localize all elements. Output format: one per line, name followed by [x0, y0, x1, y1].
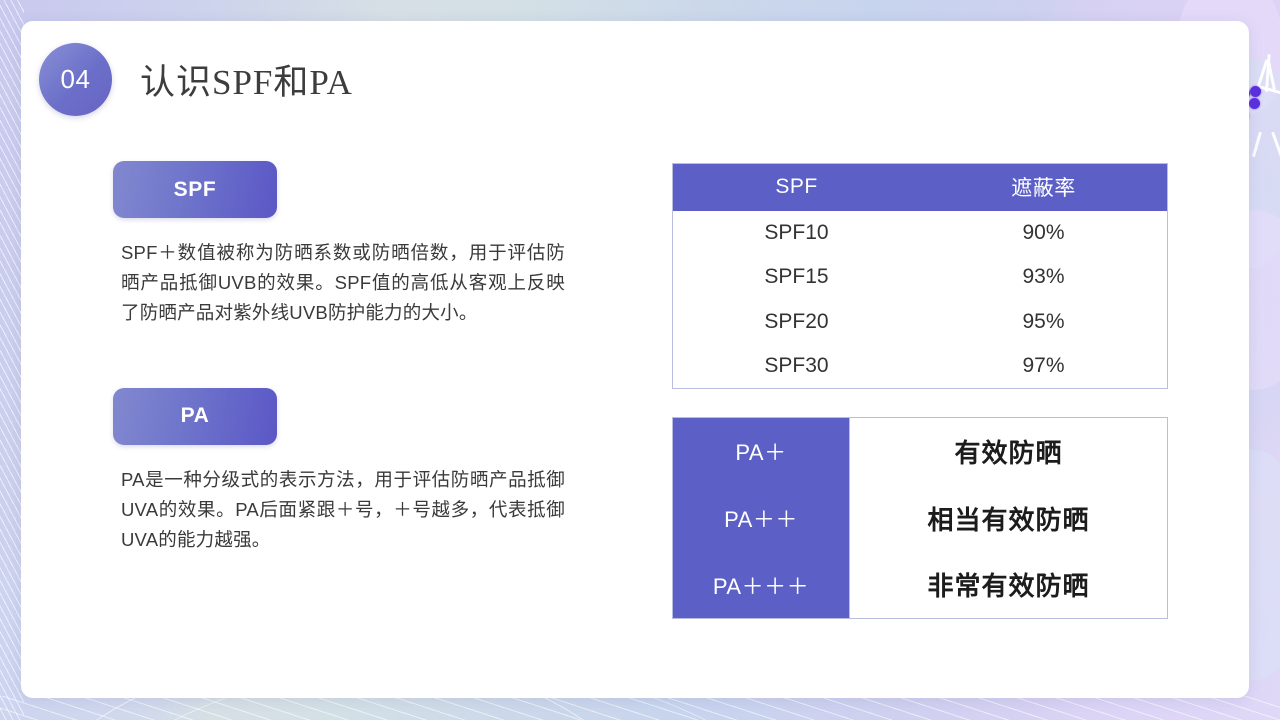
pa-table-body: PA＋ 有效防晒 PA＋＋ 相当有效防晒 PA＋＋＋ 非常有效防晒 — [673, 418, 1168, 619]
concept-text-pa: PA是一种分级式的表示方法，用于评估防晒产品抵御UVA的效果。PA后面紧跟＋号，… — [113, 465, 565, 555]
table-row: SPF15 93% — [673, 255, 1168, 300]
table-row: PA＋＋＋ 非常有效防晒 — [673, 552, 1168, 619]
pa-cell-desc: 相当有效防晒 — [850, 485, 1168, 552]
table-row: SPF30 97% — [673, 344, 1168, 389]
pa-cell-level: PA＋ — [673, 418, 850, 485]
spf-cell-level: SPF15 — [673, 255, 921, 300]
slide-header: 04 认识SPF和PA — [21, 21, 353, 116]
concept-block-pa: PA PA是一种分级式的表示方法，用于评估防晒产品抵御UVA的效果。PA后面紧跟… — [113, 388, 583, 555]
page-title: 认识SPF和PA — [140, 54, 353, 105]
pa-cell-level: PA＋＋ — [673, 485, 850, 552]
content-card: 04 认识SPF和PA SPF SPF＋数值被称为防晒系数或防晒倍数，用于评估防… — [21, 21, 1249, 698]
concept-block-spf: SPF SPF＋数值被称为防晒系数或防晒倍数，用于评估防晒产品抵御UVB的效果。… — [113, 161, 583, 328]
right-column: SPF 遮蔽率 SPF10 90% SPF15 93% SPF20 — [672, 163, 1168, 619]
spf-table-body: SPF10 90% SPF15 93% SPF20 95% SPF30 97% — [673, 211, 1168, 389]
spf-cell-level: SPF20 — [673, 300, 921, 345]
spf-shielding-rate-table: SPF 遮蔽率 SPF10 90% SPF15 93% SPF20 — [672, 163, 1168, 389]
left-column: SPF SPF＋数值被称为防晒系数或防晒倍数，用于评估防晒产品抵御UVB的效果。… — [113, 161, 583, 615]
spf-table-head: SPF 遮蔽率 — [673, 164, 1168, 211]
concept-text-spf: SPF＋数值被称为防晒系数或防晒倍数，用于评估防晒产品抵御UVB的效果。SPF值… — [113, 238, 565, 328]
spf-table-header-rate: 遮蔽率 — [920, 164, 1168, 211]
concept-badge-spf: SPF — [113, 161, 277, 218]
spf-cell-level: SPF10 — [673, 211, 921, 256]
table-row: PA＋＋ 相当有效防晒 — [673, 485, 1168, 552]
table-row: PA＋ 有效防晒 — [673, 418, 1168, 485]
table-row: SPF20 95% — [673, 300, 1168, 345]
berry-dot-2 — [1250, 86, 1261, 97]
spf-cell-level: SPF30 — [673, 344, 921, 389]
pa-grade-table: PA＋ 有效防晒 PA＋＋ 相当有效防晒 PA＋＋＋ 非常有效防晒 — [672, 417, 1168, 619]
section-number-badge: 04 — [39, 43, 112, 116]
spf-cell-rate: 97% — [920, 344, 1168, 389]
slide-canvas: 04 认识SPF和PA SPF SPF＋数值被称为防晒系数或防晒倍数，用于评估防… — [0, 0, 1280, 720]
spf-table-header-row: SPF 遮蔽率 — [673, 164, 1168, 211]
spf-cell-rate: 95% — [920, 300, 1168, 345]
pa-cell-desc: 非常有效防晒 — [850, 552, 1168, 619]
table-row: SPF10 90% — [673, 211, 1168, 256]
concept-badge-pa: PA — [113, 388, 277, 445]
spf-table-header-spf: SPF — [673, 164, 921, 211]
pa-cell-level: PA＋＋＋ — [673, 552, 850, 619]
spf-cell-rate: 90% — [920, 211, 1168, 256]
pa-cell-desc: 有效防晒 — [850, 418, 1168, 485]
spf-cell-rate: 93% — [920, 255, 1168, 300]
berry-dot-4 — [1249, 98, 1260, 109]
